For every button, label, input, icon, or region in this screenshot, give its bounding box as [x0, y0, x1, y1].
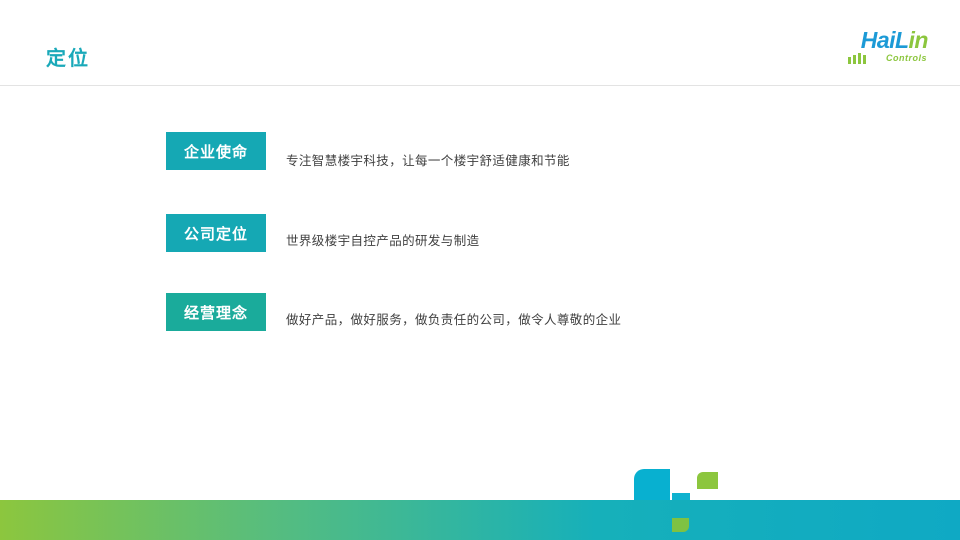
row-tag-philosophy: 经营理念 — [166, 293, 266, 331]
list-item: 经营理念 做好产品，做好服务，做负责任的公司，做令人尊敬的企业 — [166, 293, 621, 331]
row-tag-mission: 企业使命 — [166, 132, 266, 170]
row-text-philosophy: 做好产品，做好服务，做负责任的公司，做令人尊敬的企业 — [286, 297, 621, 328]
logo-wordmark: HaiLin — [861, 28, 928, 52]
logo-wordmark-part2: in — [909, 27, 928, 53]
header-divider — [0, 85, 960, 86]
decoration-square-green — [697, 472, 718, 489]
decoration-block-blue — [634, 469, 670, 500]
slide: 定位 HaiLin Controls 企业使命 专注智慧楼宇科技，让每一个楼宇舒… — [0, 0, 960, 540]
list-item: 公司定位 世界级楼宇自控产品的研发与制造 — [166, 214, 480, 252]
company-logo: HaiLin Controls — [818, 28, 928, 70]
bottom-gradient-band — [0, 500, 960, 540]
row-text-mission: 专注智慧楼宇科技，让每一个楼宇舒适健康和节能 — [286, 134, 570, 169]
logo-bars-icon — [848, 53, 866, 64]
logo-wordmark-part1: HaiL — [861, 27, 909, 53]
page-title: 定位 — [46, 42, 90, 71]
logo-subtitle: Controls — [886, 53, 927, 63]
row-text-positioning: 世界级楼宇自控产品的研发与制造 — [286, 218, 480, 249]
row-tag-positioning: 公司定位 — [166, 214, 266, 252]
decoration-square-small-green — [672, 518, 689, 532]
list-item: 企业使命 专注智慧楼宇科技，让每一个楼宇舒适健康和节能 — [166, 132, 570, 170]
